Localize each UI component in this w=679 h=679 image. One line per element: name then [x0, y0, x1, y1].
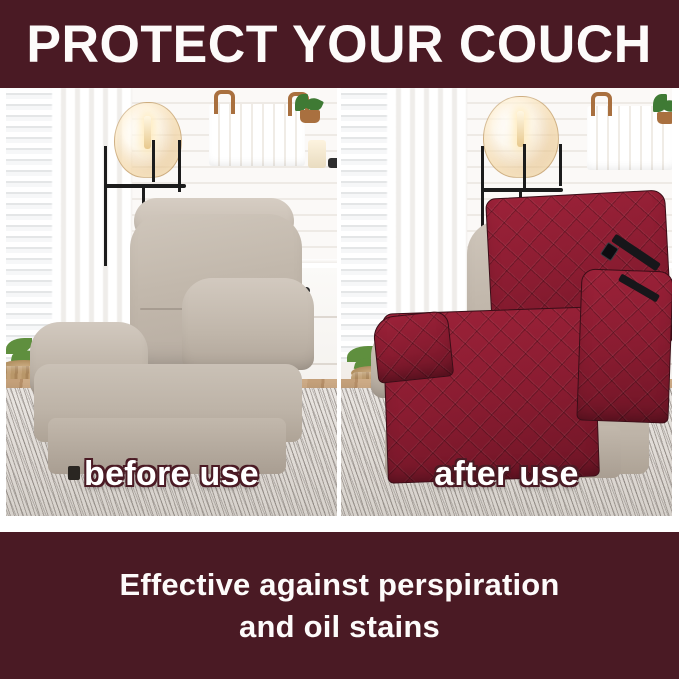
before-use-caption: before use [6, 455, 337, 494]
lamp-rod-left [104, 146, 107, 266]
lamp-rod-right [559, 144, 562, 186]
footer-headline-line2: and oil stains [239, 606, 440, 647]
basket-handle-left-icon [591, 92, 612, 116]
lamp-rod-mid [152, 140, 155, 182]
after-use-caption: after use [341, 455, 672, 494]
basket-handle-left-icon [214, 90, 235, 114]
chair-arm-right [182, 278, 314, 370]
counter-object-icon [328, 158, 337, 168]
room-scene-before [6, 88, 337, 516]
room-scene-after [341, 88, 672, 516]
lamp-base-plate [481, 188, 563, 192]
amber-globe-lamp-icon [114, 102, 182, 178]
lamp-base-plate [104, 184, 186, 188]
quilted-cover-arm-left [372, 310, 454, 384]
before-after-comparison: before use [6, 88, 673, 516]
product-advertisement: PROTECT YOUR COUCH [0, 0, 679, 679]
after-photo-panel: after use [341, 88, 672, 516]
page-title: PROTECT YOUR COUCH [27, 18, 652, 71]
plant-pot-icon [657, 112, 672, 124]
candle-icon [308, 140, 326, 168]
plant-pot-icon [300, 110, 320, 123]
footer-headline-line1: Effective against perspiration [119, 564, 559, 605]
header-banner: PROTECT YOUR COUCH [0, 0, 679, 88]
footer-banner: Effective against perspiration and oil s… [0, 532, 679, 679]
lamp-rod-mid [523, 144, 526, 192]
before-photo-panel: before use [6, 88, 337, 516]
quilted-cover-arm-right [576, 268, 672, 423]
amber-globe-lamp-icon [483, 96, 559, 178]
